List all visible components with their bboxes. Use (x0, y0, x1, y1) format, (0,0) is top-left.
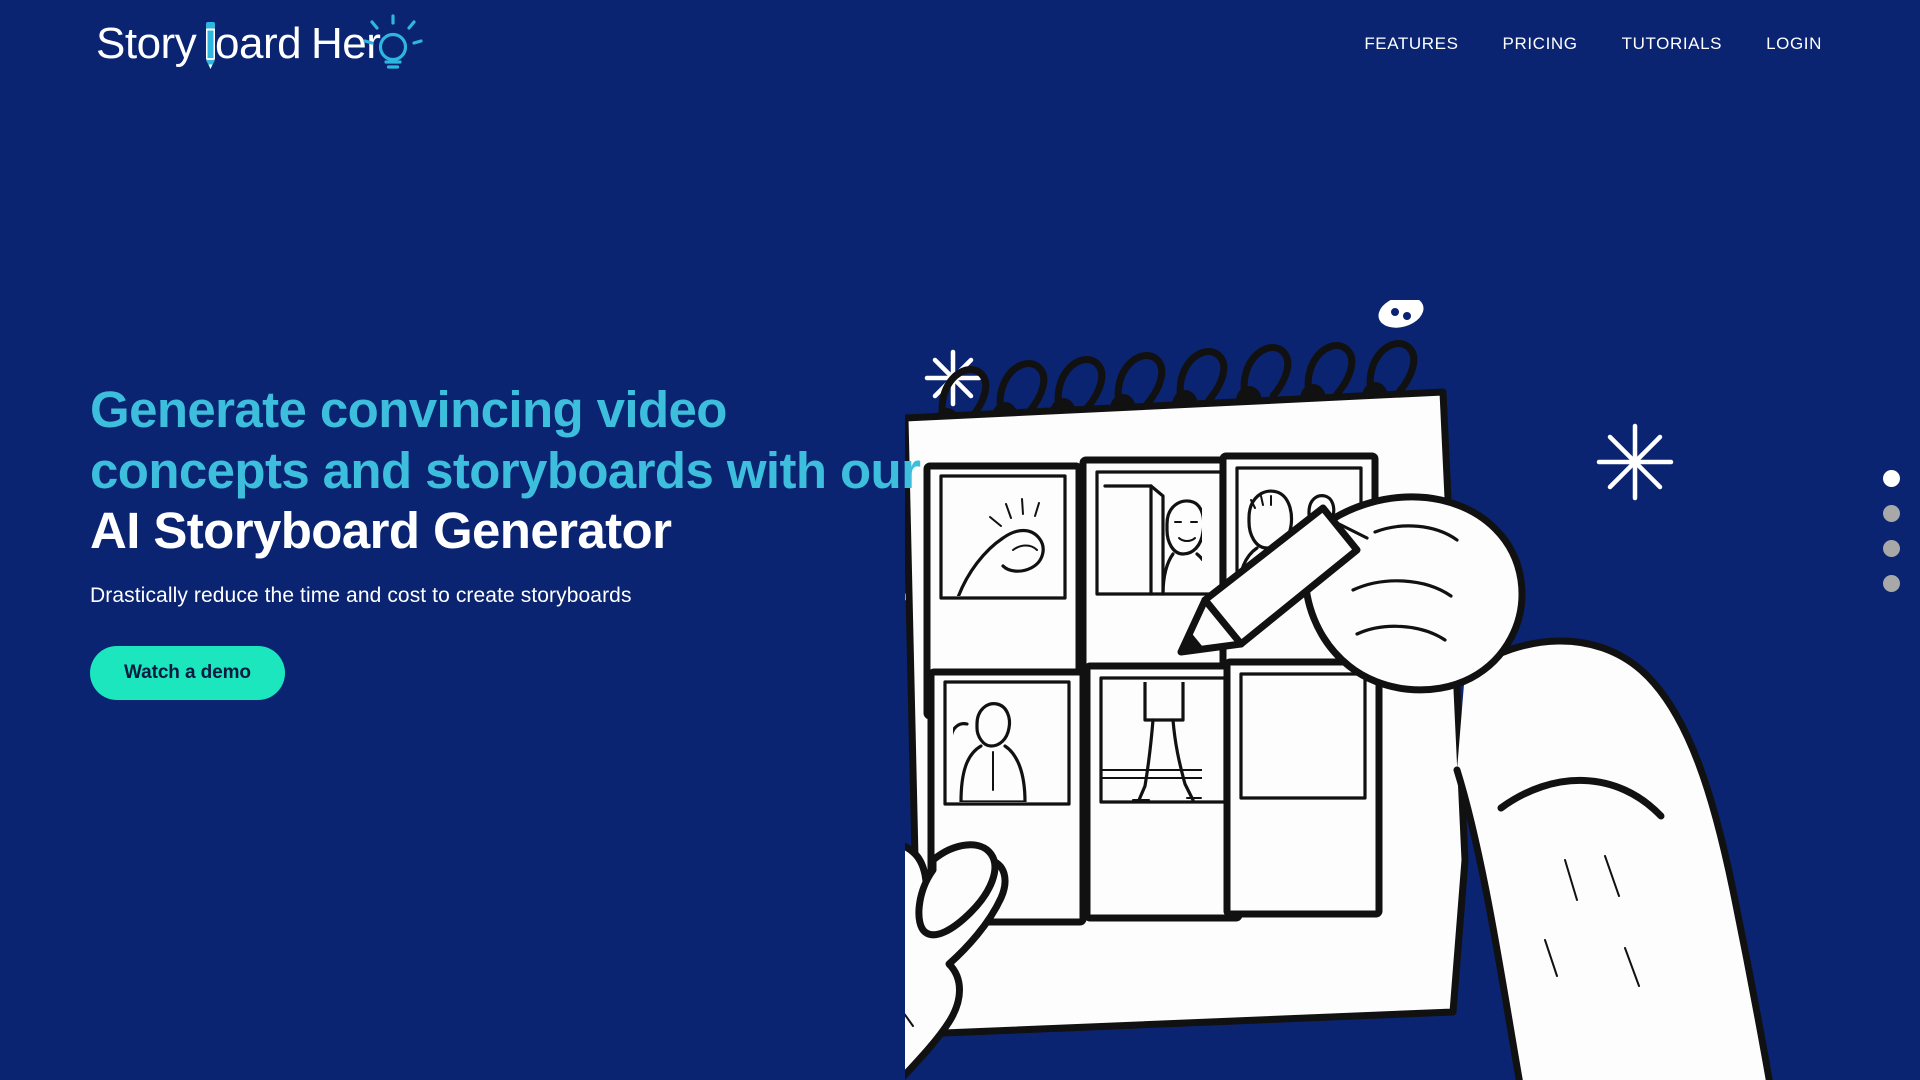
storyboard-panel-2 (1083, 460, 1235, 710)
headline-line-2: concepts and storyboards with our (90, 441, 990, 502)
hero-section: Generate convincing video concepts and s… (90, 380, 990, 700)
storyboard-panel-5 (1087, 666, 1239, 918)
pencil-illustration (1181, 508, 1367, 652)
storyboardhero-logo-icon: Story oard Her (96, 14, 476, 76)
hero-illustration: .ink { fill:none; stroke:#111111; stroke… (905, 300, 1920, 1080)
pencil-icon (206, 22, 215, 69)
nav-item-login[interactable]: LOGIN (1764, 30, 1824, 58)
site-header: Story oard Her (0, 0, 1920, 92)
slider-dot-4[interactable] (1883, 575, 1900, 592)
right-hand-with-pencil-illustration (1181, 497, 1771, 1080)
storyboard-panel-3 (1223, 456, 1375, 706)
slider-dot-navigation (1883, 470, 1900, 592)
nav-item-pricing[interactable]: PRICING (1501, 30, 1580, 58)
sparkle-8ray-right-icon (1599, 426, 1671, 498)
slider-dot-2[interactable] (1883, 505, 1900, 522)
page-title: Generate convincing video concepts and s… (90, 380, 990, 562)
watch-demo-button[interactable]: Watch a demo (90, 646, 285, 700)
nav-item-tutorials[interactable]: TUTORIALS (1620, 30, 1725, 58)
svg-text:Story: Story (96, 19, 197, 68)
headline-line-3: AI Storyboard Generator (90, 501, 990, 562)
spiral-binding (934, 344, 1414, 438)
slider-dot-3[interactable] (1883, 540, 1900, 557)
svg-text:oard: oard (215, 19, 301, 68)
headline-line-1: Generate convincing video (90, 380, 990, 441)
pebbles-cluster-icon (1367, 300, 1447, 333)
storyboard-panel-4 (931, 672, 1083, 922)
left-hand-illustration (905, 842, 1005, 1080)
slider-dot-1[interactable] (1883, 470, 1900, 487)
brand-logo[interactable]: Story oard Her (96, 14, 476, 76)
hero-subheadline: Drastically reduce the time and cost to … (90, 584, 990, 608)
landing-page: Story oard Her (0, 0, 1920, 1080)
storyboard-pad-illustration: .ink { fill:none; stroke:#111111; stroke… (905, 300, 1920, 1080)
nav-item-features[interactable]: FEATURES (1362, 30, 1460, 58)
storyboard-panel-6 (1227, 662, 1379, 914)
main-navigation: FEATURES PRICING TUTORIALS LOGIN (1362, 30, 1824, 58)
